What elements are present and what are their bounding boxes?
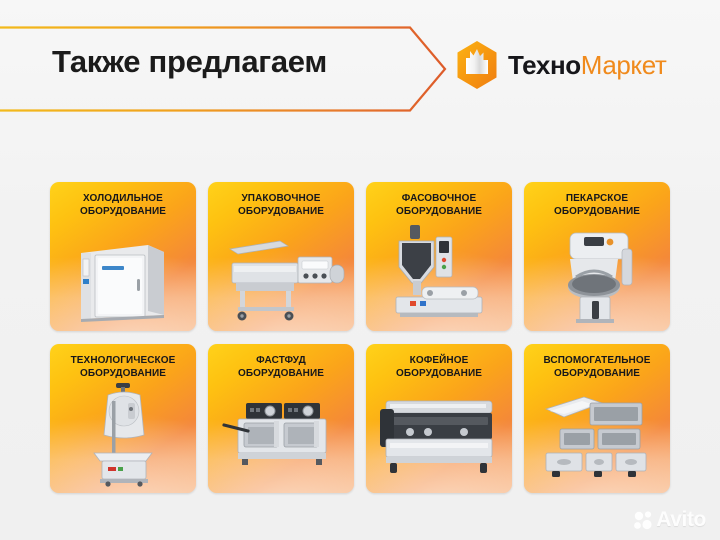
brand-logo: ТехноМаркет [455, 40, 666, 90]
card-title-line2: ОБОРУДОВАНИЕ [213, 206, 349, 219]
card-title: ПЕКАРСКОЕ ОБОРУДОВАНИЕ [529, 193, 665, 218]
card-title-line2: ОБОРУДОВАНИЕ [55, 206, 191, 219]
card-title-line1: ВСПОМОГАТЕЛЬНОЕ [529, 355, 665, 368]
card-title-line2: ОБОРУДОВАНИЕ [55, 368, 191, 381]
deep-fryer-icon [208, 381, 354, 489]
card-title: ТЕХНОЛОГИЧЕСКОЕ ОБОРУДОВАНИЕ [55, 355, 191, 380]
card-title-line1: ТЕХНОЛОГИЧЕСКОЕ [55, 355, 191, 368]
card-title-line2: ОБОРУДОВАНИЕ [213, 368, 349, 381]
gastronorm-pans-icon [524, 381, 670, 489]
brand-name-orange: Маркет [581, 50, 667, 80]
shrink-wrapper-icon [208, 219, 354, 327]
card-title: УПАКОВОЧНОЕ ОБОРУДОВАНИЕ [213, 193, 349, 218]
avito-dots-icon [633, 510, 653, 530]
category-card-packaging[interactable]: УПАКОВОЧНОЕ ОБОРУДОВАНИЕ [208, 182, 354, 331]
espresso-machine-icon [366, 381, 512, 489]
category-card-fastfood[interactable]: ФАСТФУД ОБОРУДОВАНИЕ [208, 344, 354, 493]
brand-wordmark: ТехноМаркет [508, 52, 666, 78]
avito-watermark: Avito [633, 509, 706, 530]
category-card-coffee[interactable]: КОФЕЙНОЕ ОБОРУДОВАНИЕ [366, 344, 512, 493]
header: Также предлагаем [0, 0, 720, 140]
card-title: ФАСОВОЧНОЕ ОБОРУДОВАНИЕ [371, 193, 507, 218]
category-card-refrigeration[interactable]: ХОЛОДИЛЬНОЕ ОБОРУДОВАНИЕ [50, 182, 196, 331]
category-card-auxiliary[interactable]: ВСПОМОГАТЕЛЬНОЕ ОБОРУДОВАНИЕ [524, 344, 670, 493]
card-title-line1: ПЕКАРСКОЕ [529, 193, 665, 206]
walk-in-cooler-icon [50, 219, 196, 327]
card-title-line1: ХОЛОДИЛЬНОЕ [55, 193, 191, 206]
card-title-line1: ФАСОВОЧНОЕ [371, 193, 507, 206]
category-grid: ХОЛОДИЛЬНОЕ ОБОРУДОВАНИЕ [50, 182, 670, 493]
hexagon-skyline-icon [455, 40, 499, 90]
filling-machine-icon [366, 219, 512, 327]
card-title-line2: ОБОРУДОВАНИЕ [371, 206, 507, 219]
card-title: ВСПОМОГАТЕЛЬНОЕ ОБОРУДОВАНИЕ [529, 355, 665, 380]
band-saw-icon [50, 381, 196, 489]
card-title: ХОЛОДИЛЬНОЕ ОБОРУДОВАНИЕ [55, 193, 191, 218]
page-title: Также предлагаем [52, 43, 327, 81]
card-title-line1: ФАСТФУД [213, 355, 349, 368]
slide-root: Также предлагаем [0, 0, 720, 540]
card-title-line2: ОБОРУДОВАНИЕ [529, 368, 665, 381]
card-title-line2: ОБОРУДОВАНИЕ [371, 368, 507, 381]
category-card-filling[interactable]: ФАСОВОЧНОЕ ОБОРУДОВАНИЕ [366, 182, 512, 331]
category-card-bakery[interactable]: ПЕКАРСКОЕ ОБОРУДОВАНИЕ [524, 182, 670, 331]
card-title-line1: УПАКОВОЧНОЕ [213, 193, 349, 206]
card-title: КОФЕЙНОЕ ОБОРУДОВАНИЕ [371, 355, 507, 380]
brand-name-dark: Техно [508, 50, 581, 80]
avito-watermark-label: Avito [656, 509, 706, 530]
card-title: ФАСТФУД ОБОРУДОВАНИЕ [213, 355, 349, 380]
spiral-dough-mixer-icon [524, 219, 670, 327]
card-title-line1: КОФЕЙНОЕ [371, 355, 507, 368]
category-card-technological[interactable]: ТЕХНОЛОГИЧЕСКОЕ ОБОРУДОВАНИЕ [50, 344, 196, 493]
card-title-line2: ОБОРУДОВАНИЕ [529, 206, 665, 219]
